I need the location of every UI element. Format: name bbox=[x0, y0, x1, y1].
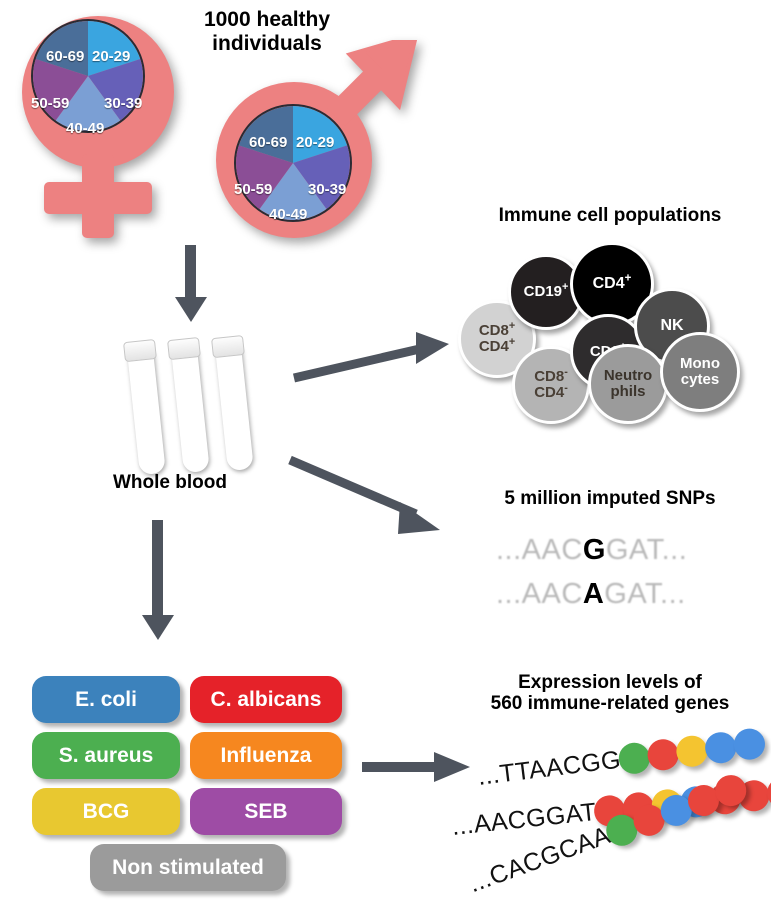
stimuli-panel: E. coli C. albicans S. aureus Influenza … bbox=[32, 676, 342, 898]
blood-tube-body bbox=[127, 351, 166, 475]
immune-cell-label: CD8+CD4+ bbox=[479, 323, 515, 354]
blood-tube-cap bbox=[211, 335, 245, 358]
page-title-line1: 1000 healthy bbox=[172, 8, 362, 32]
male-slice-label-20-29: 20-29 bbox=[296, 134, 334, 151]
stimulus-label: Influenza bbox=[220, 744, 311, 768]
arrow-blood-to-stimuli bbox=[138, 520, 180, 642]
female-slice-label-40-49: 40-49 bbox=[66, 120, 104, 137]
immune-cell-cluster: CD8+CD4+ CD8-CD4- CD19+ CD4+ CD8+ NK Neu… bbox=[452, 240, 752, 415]
snp-sequence-row: ...AACGGAT... bbox=[496, 534, 687, 567]
immune-cell-label: CD8-CD4- bbox=[534, 369, 568, 400]
expression-bead bbox=[732, 727, 767, 762]
immune-cell-label: Monocytes bbox=[680, 356, 720, 387]
immune-section-title: Immune cell populations bbox=[455, 205, 765, 226]
female-age-pie bbox=[31, 19, 145, 133]
immune-cell-label: CD4+ bbox=[593, 276, 632, 293]
expression-title-line2: 560 immune-related genes bbox=[450, 693, 770, 714]
stimulus-s-aureus[interactable]: S. aureus bbox=[32, 732, 180, 779]
male-slice-label-50-59: 50-59 bbox=[234, 181, 272, 198]
stimulus-c-albicans[interactable]: C. albicans bbox=[190, 676, 342, 723]
female-age-pie-slices bbox=[33, 21, 143, 131]
female-slice-label-50-59: 50-59 bbox=[31, 95, 69, 112]
stimulus-label: S. aureus bbox=[59, 744, 154, 768]
expression-section-title: Expression levels of 560 immune-related … bbox=[450, 672, 770, 715]
expression-bead bbox=[674, 734, 709, 769]
arrow-blood-to-snps bbox=[288, 452, 448, 542]
whole-blood-tubes bbox=[118, 338, 268, 468]
immune-cell-neutrophils: Neutrophils bbox=[588, 344, 668, 424]
stimulus-label: Non stimulated bbox=[112, 856, 264, 880]
female-slice-label-60-69: 60-69 bbox=[46, 48, 84, 65]
immune-cell-label: NK bbox=[660, 318, 683, 335]
blood-tube-cap bbox=[167, 337, 201, 360]
male-age-pie-slices bbox=[236, 106, 350, 220]
snp-suffix: GAT... bbox=[604, 578, 685, 610]
stimulus-e-coli[interactable]: E. coli bbox=[32, 676, 180, 723]
snp-variant-allele: A bbox=[583, 578, 604, 610]
immune-cell-label: CD19+ bbox=[524, 284, 569, 300]
snp-suffix: GAT... bbox=[606, 534, 687, 566]
female-slice-label-30-39: 30-39 bbox=[104, 95, 142, 112]
stimulus-label: E. coli bbox=[75, 688, 137, 712]
stimulus-seb[interactable]: SEB bbox=[190, 788, 342, 835]
snp-prefix: ...AAC bbox=[496, 578, 583, 610]
figure-canvas: 1000 healthy individuals 60-69 20-29 50-… bbox=[0, 0, 771, 922]
blood-tube-body bbox=[171, 349, 210, 473]
whole-blood-label: Whole blood bbox=[60, 472, 280, 493]
blood-tube-cap bbox=[123, 339, 157, 362]
expression-bead bbox=[703, 730, 738, 765]
snp-sequence-row: ...AACAGAT... bbox=[496, 578, 686, 611]
stimulus-influenza[interactable]: Influenza bbox=[190, 732, 342, 779]
immune-cell-monocytes: Monocytes bbox=[660, 332, 740, 412]
snp-variant-allele: G bbox=[583, 534, 606, 566]
snp-prefix: ...AAC bbox=[496, 534, 583, 566]
stimulus-label: SEB bbox=[244, 800, 287, 824]
expression-title-line1: Expression levels of bbox=[450, 672, 770, 693]
male-slice-label-30-39: 30-39 bbox=[308, 181, 346, 198]
stimulus-bcg[interactable]: BCG bbox=[32, 788, 180, 835]
expression-strand-sequence: ...TTAACGG bbox=[476, 746, 622, 792]
male-slice-label-40-49: 40-49 bbox=[269, 206, 307, 223]
snp-section-title: 5 million imputed SNPs bbox=[455, 488, 765, 509]
male-slice-label-60-69: 60-69 bbox=[249, 134, 287, 151]
stimulus-non-stimulated[interactable]: Non stimulated bbox=[90, 844, 286, 891]
arrow-cohort-to-blood bbox=[170, 245, 212, 323]
immune-cell-label: Neutrophils bbox=[604, 368, 652, 399]
arrow-stimuli-to-expression bbox=[362, 750, 472, 786]
expression-strand-group: ...TTAACGG ...AACGGAT ...CACGCAA bbox=[460, 730, 771, 920]
stimulus-label: BCG bbox=[83, 800, 130, 824]
female-slice-label-20-29: 20-29 bbox=[92, 48, 130, 65]
stimulus-label: C. albicans bbox=[211, 688, 322, 712]
blood-tube-body bbox=[215, 347, 254, 471]
male-age-pie bbox=[234, 104, 352, 222]
expression-bead bbox=[646, 738, 681, 773]
arrow-blood-to-immune bbox=[292, 330, 452, 388]
